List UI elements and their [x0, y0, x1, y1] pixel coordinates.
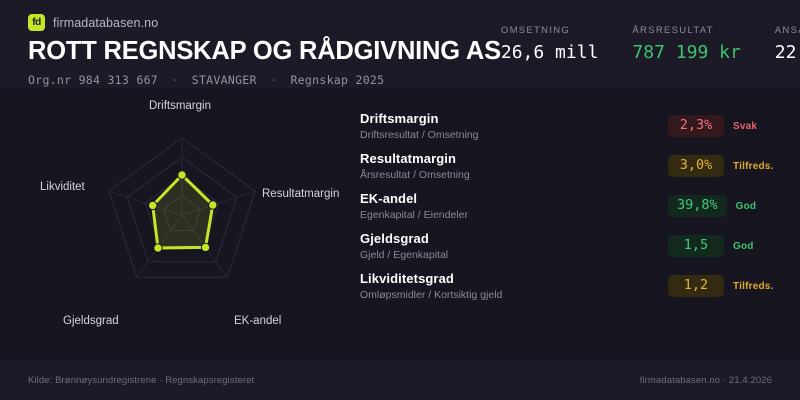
footer-bar: Kilde: Brønnøysundregistrene · Regnskaps…	[0, 360, 800, 400]
meta-separator-2: ·	[264, 73, 283, 87]
metric-row-likviditetsgrad[interactable]: Likviditetsgrad Omløpsmidler / Kortsikti…	[360, 266, 800, 306]
main-content: Driftsmargin Resultatmargin EK-andel Gje…	[0, 88, 800, 360]
stat-ansatte-value: 22	[775, 42, 800, 63]
metric-text: Likviditetsgrad Omløpsmidler / Kortsikti…	[360, 271, 660, 302]
status-badge: Tilfreds.	[733, 161, 774, 172]
header-stats: OMSETNING 26,6 mill ÅRSRESULTAT 787 199 …	[501, 14, 800, 63]
metric-text: Gjeldsgrad Gjeld / Egenkapital	[360, 231, 660, 262]
header-bar: fd firmadatabasen.no ROTT REGNSKAP OG RÅ…	[0, 0, 800, 88]
metric-formula: Egenkapital / Eiendeler	[360, 209, 660, 222]
status-badge: God	[733, 241, 754, 252]
brand-name: firmadatabasen.no	[53, 16, 158, 30]
radar-chart: Driftsmargin Resultatmargin EK-andel Gje…	[0, 88, 360, 360]
status-badge: Tilfreds.	[733, 281, 774, 292]
metric-name: Resultatmargin	[360, 151, 660, 167]
stat-arsresultat-label: ÅRSRESULTAT	[632, 25, 740, 36]
metric-right: 1,2 Tilfreds.	[668, 266, 774, 306]
metric-text: EK-andel Egenkapital / Eiendeler	[360, 191, 660, 222]
status-badge: God	[736, 201, 757, 212]
stat-omsetning: OMSETNING 26,6 mill	[501, 25, 599, 63]
metric-row-resultatmargin[interactable]: Resultatmargin Årsresultat / Omsetning 3…	[360, 146, 800, 186]
radar-series-area	[153, 175, 213, 248]
metric-value-badge: 2,3%	[668, 115, 724, 138]
stat-arsresultat: ÅRSRESULTAT 787 199 kr	[632, 25, 740, 63]
radar-axis-label-gjeldsgrad: Gjeldsgrad	[63, 315, 119, 327]
radar-axis-label-ek-andel: EK-andel	[234, 315, 281, 327]
metrics-list: Driftsmargin Driftsresultat / Omsetning …	[360, 88, 800, 360]
company-meta: Org.nr 984 313 667 · STAVANGER · Regnska…	[28, 73, 501, 87]
metric-right: 39,8% God	[668, 186, 756, 226]
metric-right: 1,5 God	[668, 226, 754, 266]
metric-right: 3,0% Tilfreds.	[668, 146, 774, 186]
metric-formula: Omløpsmidler / Kortsiktig gjeld	[360, 289, 660, 302]
status-badge: Svak	[733, 121, 757, 132]
metric-text: Driftsmargin Driftsresultat / Omsetning	[360, 111, 660, 142]
org-number: Org.nr 984 313 667	[28, 73, 158, 87]
metric-name: EK-andel	[360, 191, 660, 207]
metric-formula: Årsresultat / Omsetning	[360, 169, 660, 182]
footer-site: firmadatabasen.no · 21.4.2026	[640, 375, 772, 386]
metric-name: Likviditetsgrad	[360, 271, 660, 287]
fd-logo-icon: fd	[28, 14, 45, 31]
stat-omsetning-value: 26,6 mill	[501, 42, 599, 63]
metric-text: Resultatmargin Årsresultat / Omsetning	[360, 151, 660, 182]
metric-value-badge: 1,2	[668, 275, 724, 298]
metric-formula: Driftsresultat / Omsetning	[360, 129, 660, 142]
metric-name: Gjeldsgrad	[360, 231, 660, 247]
company-city: STAVANGER	[192, 73, 257, 87]
stat-arsresultat-value: 787 199 kr	[632, 42, 740, 63]
metric-row-ek-andel[interactable]: EK-andel Egenkapital / Eiendeler 39,8% G…	[360, 186, 800, 226]
radar-axis-label-likviditet: Likviditet	[40, 181, 85, 193]
radar-axis-label-driftsmargin: Driftsmargin	[0, 100, 360, 112]
stat-ansatte: ANSATTE 22	[775, 25, 800, 63]
brand-row[interactable]: fd firmadatabasen.no	[28, 14, 501, 31]
radar-chart-svg	[0, 88, 360, 360]
stat-ansatte-label: ANSATTE	[775, 25, 800, 36]
metric-name: Driftsmargin	[360, 111, 660, 127]
metric-formula: Gjeld / Egenkapital	[360, 249, 660, 262]
page-title: ROTT REGNSKAP OG RÅDGIVNING AS	[28, 37, 501, 66]
fiscal-year: Regnskap 2025	[290, 73, 384, 87]
metric-value-badge: 39,8%	[668, 195, 727, 218]
metric-row-driftsmargin[interactable]: Driftsmargin Driftsresultat / Omsetning …	[360, 106, 800, 146]
metric-value-badge: 1,5	[668, 235, 724, 258]
meta-separator-1: ·	[165, 73, 184, 87]
header-identity: fd firmadatabasen.no ROTT REGNSKAP OG RÅ…	[28, 14, 501, 87]
radar-axis-label-resultatmargin: Resultatmargin	[262, 188, 339, 200]
metric-row-gjeldsgrad[interactable]: Gjeldsgrad Gjeld / Egenkapital 1,5 God	[360, 226, 800, 266]
footer-source: Kilde: Brønnøysundregistrene · Regnskaps…	[28, 375, 254, 386]
metric-value-badge: 3,0%	[668, 155, 724, 178]
metric-right: 2,3% Svak	[668, 106, 757, 146]
stat-omsetning-label: OMSETNING	[501, 25, 599, 36]
